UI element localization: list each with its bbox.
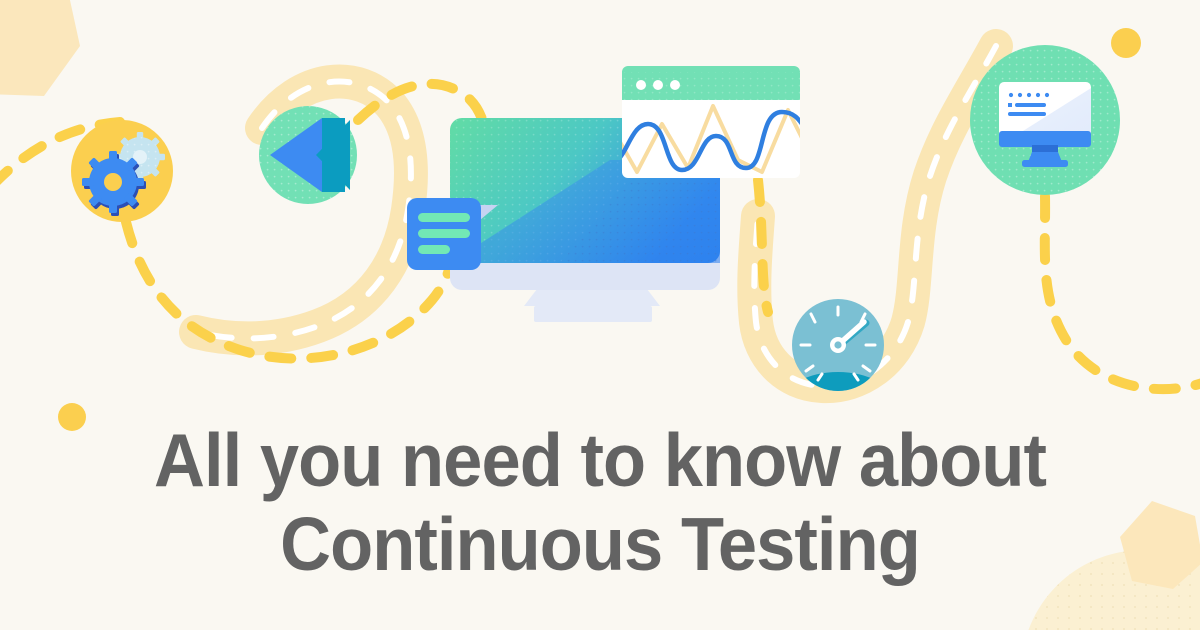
banner-root: All you need to know about Continuous Te… xyxy=(0,0,1200,630)
report-screen-bar-2 xyxy=(1008,112,1046,116)
chat-bubble-line-3 xyxy=(418,245,450,254)
chat-bubble-line-2 xyxy=(418,229,470,238)
decoration-dot-top-right xyxy=(1111,28,1141,58)
report-screen-bar-1 xyxy=(1015,103,1046,107)
decoration-hexagon-top-left xyxy=(0,0,80,96)
gears-node[interactable] xyxy=(71,120,173,222)
result-monitor-node[interactable] xyxy=(970,45,1120,195)
speedometer-node[interactable] xyxy=(782,299,894,436)
decoration-dot-left xyxy=(58,403,86,431)
rewind-node[interactable] xyxy=(259,106,357,204)
window-dot-2 xyxy=(653,80,663,90)
window-dot-3 xyxy=(670,80,680,90)
window-dot-1 xyxy=(636,80,646,90)
chat-bubble xyxy=(407,198,481,270)
chart-window xyxy=(612,66,808,178)
chat-bubble-line-1 xyxy=(418,213,470,222)
illustration-canvas xyxy=(0,0,1200,630)
dashed-connector-report-to-edge xyxy=(1045,196,1200,389)
